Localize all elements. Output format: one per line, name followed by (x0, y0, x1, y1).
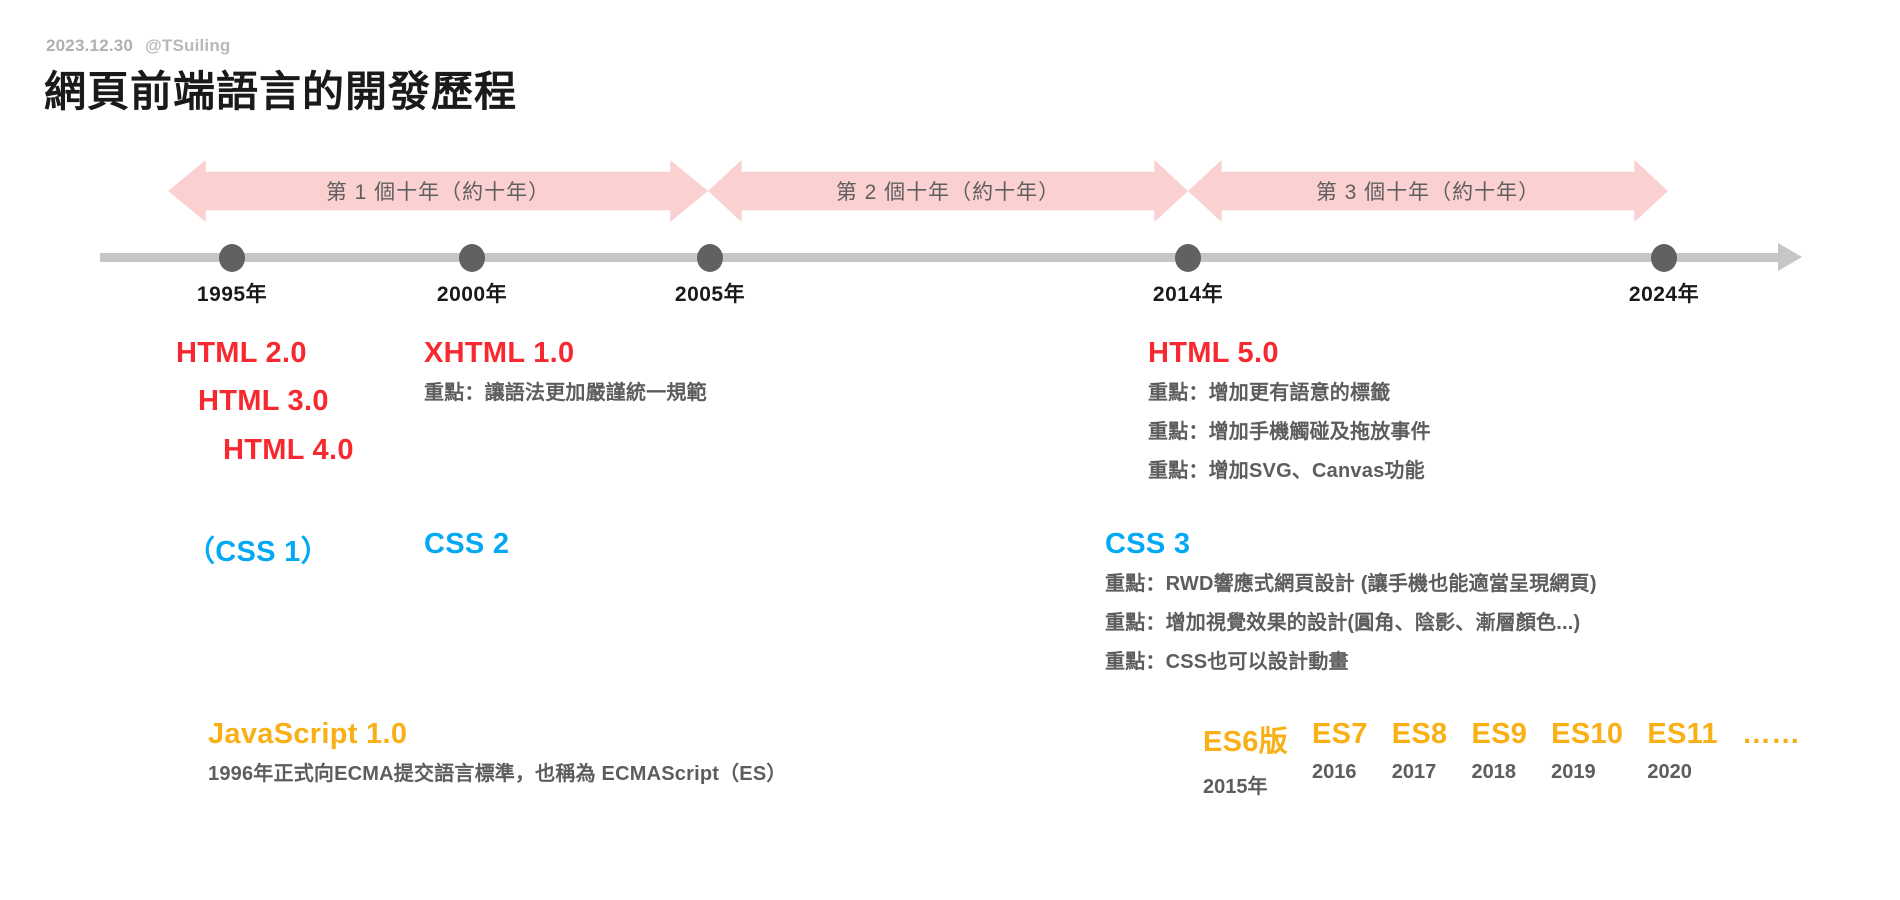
es-release-name: ES7 (1312, 718, 1368, 751)
css-3-note-1: 重點：RWD響應式網頁設計 (讓手機也能適當呈現網頁) (1105, 568, 1597, 600)
html-3-0-label: HTML 3.0 (198, 385, 329, 418)
css-3-note-2: 重點：增加視覺效果的設計(圓角、陰影、漸層顏色...) (1105, 607, 1597, 639)
page-title: 網頁前端語言的開發歷程 (44, 58, 517, 119)
timeline-dot-2014 (1175, 244, 1201, 272)
decade-arrow-2-label: 第 2 個十年（約十年） (836, 176, 1060, 206)
css-3-label: CSS 3 (1105, 528, 1597, 561)
es-release-row: ES6版 2015年 ES7 2016 ES8 2017 ES9 2018 ES… (1203, 718, 1824, 799)
decade-arrow-1: 第 1 個十年（約十年） (168, 160, 708, 222)
css-1-entry: （CSS 1） (186, 528, 330, 570)
css-3-note-3: 重點：CSS也可以設計動畫 (1105, 646, 1597, 678)
html-5-0-label: HTML 5.0 (1148, 337, 1431, 370)
timeline-year-4: 2014年 (1153, 278, 1223, 308)
html-4-0-entry: HTML 4.0 (223, 434, 354, 467)
decade-arrow-2: 第 2 個十年（約十年） (708, 160, 1188, 222)
javascript-1-0-note-1: 1996年正式向ECMA提交語言標準，也稱為 ECMAScript（ES） (208, 758, 787, 790)
decade-arrow-1-label: 第 1 個十年（約十年） (326, 176, 550, 206)
es-release-year: 2016 (1312, 761, 1368, 784)
timeline-dot-2000 (459, 244, 485, 272)
decade-arrow-3-label: 第 3 個十年（約十年） (1316, 176, 1540, 206)
es-release-year: 2020 (1647, 761, 1718, 784)
xhtml-1-0-entry: XHTML 1.0 重點：讓語法更加嚴謹統一規範 (424, 337, 707, 409)
html-5-0-note-1: 重點：增加更有語意的標籤 (1148, 377, 1431, 409)
es-release-name: ES11 (1647, 718, 1718, 751)
html-5-0-note-2: 重點：增加手機觸碰及拖放事件 (1148, 416, 1431, 448)
es-release-name: ES10 (1551, 718, 1623, 751)
javascript-1-0-entry: JavaScript 1.0 1996年正式向ECMA提交語言標準，也稱為 EC… (208, 718, 787, 790)
es-release-item: ES7 2016 (1312, 718, 1368, 784)
javascript-1-0-label: JavaScript 1.0 (208, 718, 787, 751)
timeline-year-1: 1995年 (197, 278, 267, 308)
timeline-arrow-icon (1778, 243, 1802, 271)
timeline-year-3: 2005年 (675, 278, 745, 308)
es-release-year: 2019 (1551, 761, 1623, 784)
html-5-0-note-3: 重點：增加SVG、Canvas功能 (1148, 455, 1431, 487)
timeline-dot-2005 (697, 244, 723, 272)
css-2-entry: CSS 2 (424, 528, 509, 561)
es-release-name: ES6版 (1203, 718, 1288, 760)
html-3-0-entry: HTML 3.0 (198, 385, 329, 418)
decade-arrow-3: 第 3 個十年（約十年） (1188, 160, 1668, 222)
page-meta: 2023.12.30@TSuiling (46, 36, 231, 56)
html-2-0-entry: HTML 2.0 (176, 337, 307, 370)
es-release-item: ES8 2017 (1392, 718, 1448, 784)
xhtml-1-0-note-1: 重點：讓語法更加嚴謹統一規範 (424, 377, 707, 409)
css-2-label: CSS 2 (424, 528, 509, 561)
timeline-year-2: 2000年 (437, 278, 507, 308)
timeline-axis (100, 253, 1780, 262)
es-release-item: ES6版 2015年 (1203, 718, 1288, 799)
timeline-dot-2024 (1651, 244, 1677, 272)
xhtml-1-0-label: XHTML 1.0 (424, 337, 707, 370)
es-release-item: ES10 2019 (1551, 718, 1623, 784)
timeline-year-5: 2024年 (1629, 278, 1699, 308)
es-release-year: 2017 (1392, 761, 1448, 784)
es-release-item: ES11 2020 (1647, 718, 1718, 784)
es-release-more: …… (1742, 718, 1801, 761)
es-release-item: ES9 2018 (1471, 718, 1527, 784)
html-4-0-label: HTML 4.0 (223, 434, 354, 467)
es-release-name: ES9 (1471, 718, 1527, 751)
es-release-more-label: …… (1742, 718, 1801, 751)
es-release-name: ES8 (1392, 718, 1448, 751)
timeline-dot-1995 (219, 244, 245, 272)
html-2-0-label: HTML 2.0 (176, 337, 307, 370)
html-5-0-entry: HTML 5.0 重點：增加更有語意的標籤 重點：增加手機觸碰及拖放事件 重點：… (1148, 337, 1431, 487)
meta-handle: @TSuiling (145, 36, 230, 55)
css-3-entry: CSS 3 重點：RWD響應式網頁設計 (讓手機也能適當呈現網頁) 重點：增加視… (1105, 528, 1597, 678)
css-1-label: （CSS 1） (186, 528, 330, 570)
es-release-year: 2015年 (1203, 770, 1288, 799)
es-release-year: 2018 (1471, 761, 1527, 784)
meta-date: 2023.12.30 (46, 36, 133, 55)
